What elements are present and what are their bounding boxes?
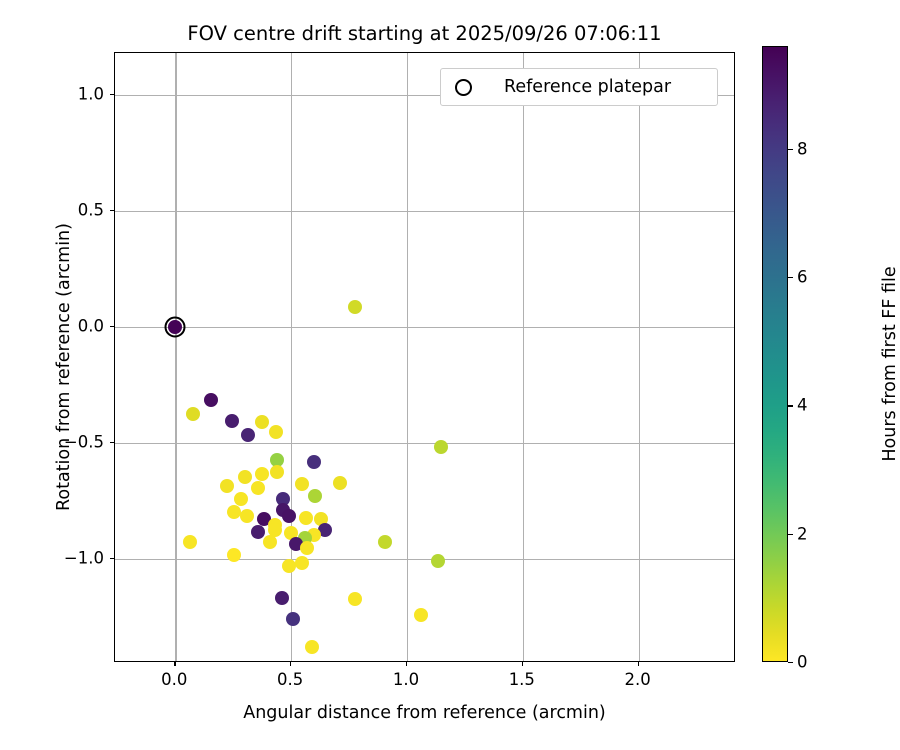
scatter-point <box>227 548 241 562</box>
colorbar-tick <box>788 149 793 150</box>
y-axis-tick <box>110 558 114 559</box>
scatter-point <box>286 612 300 626</box>
x-axis-tick <box>174 662 175 666</box>
scatter-point <box>251 525 265 539</box>
scatter-point <box>269 425 283 439</box>
colorbar-tick-label: 0 <box>797 653 808 672</box>
scatter-point <box>299 511 313 525</box>
x-axis-label: Angular distance from reference (arcmin) <box>114 703 735 723</box>
y-axis-tick-label: 1.0 <box>52 84 104 103</box>
gridline-vertical <box>639 53 640 661</box>
scatter-point <box>333 476 347 490</box>
colorbar-tick <box>788 277 793 278</box>
page-title: FOV centre drift starting at 2025/09/26 … <box>114 22 735 45</box>
scatter-point <box>225 414 239 428</box>
scatter-point <box>220 479 234 493</box>
scatter-point <box>282 559 296 573</box>
colorbar-tick <box>788 534 793 535</box>
scatter-point <box>241 428 255 442</box>
scatter-point <box>275 591 289 605</box>
gridline-horizontal <box>115 211 734 212</box>
gridline-horizontal <box>115 559 734 560</box>
x-axis-tick <box>522 662 523 666</box>
scatter-point <box>240 509 254 523</box>
legend-marker-reference-platepar <box>455 79 472 96</box>
scatter-point <box>295 477 309 491</box>
scatter-point <box>255 467 269 481</box>
scatter-point <box>234 492 248 506</box>
x-axis-tick <box>638 662 639 666</box>
scatter-point <box>204 393 218 407</box>
gridline-vertical <box>523 53 524 661</box>
y-axis-tick-label: −1.0 <box>52 548 104 567</box>
x-axis-tick <box>406 662 407 666</box>
x-axis-tick <box>290 662 291 666</box>
scatter-point <box>300 541 314 555</box>
colorbar-tick <box>788 662 793 663</box>
scatter-point <box>305 640 319 654</box>
gridline-horizontal <box>115 443 734 444</box>
scatter-point <box>282 509 296 523</box>
y-axis-tick <box>110 326 114 327</box>
scatter-point <box>227 505 241 519</box>
scatter-point <box>307 455 321 469</box>
colorbar-tick-label: 6 <box>797 268 808 287</box>
y-axis-tick <box>110 210 114 211</box>
gridline-vertical <box>175 53 176 661</box>
scatter-point <box>251 481 265 495</box>
scatter-point <box>295 556 309 570</box>
x-axis-tick-label: 0.0 <box>161 670 187 689</box>
scatter-point <box>348 300 362 314</box>
plot-area <box>114 52 735 662</box>
scatter-point <box>186 407 200 421</box>
colorbar <box>762 46 788 662</box>
scatter-point <box>270 465 284 479</box>
scatter-point <box>378 535 392 549</box>
colorbar-tick-label: 2 <box>797 524 808 543</box>
y-axis-label: Rotation from reference (arcmin) <box>54 217 74 517</box>
scatter-point <box>255 415 269 429</box>
x-axis-tick-label: 1.0 <box>393 670 419 689</box>
colorbar-label: Hours from first FF file <box>880 174 900 554</box>
colorbar-tick-label: 4 <box>797 396 808 415</box>
gridline-horizontal <box>115 327 734 328</box>
y-axis-tick <box>110 442 114 443</box>
scatter-point <box>263 535 277 549</box>
x-axis-tick-label: 2.0 <box>625 670 651 689</box>
x-axis-tick-label: 1.5 <box>509 670 535 689</box>
scatter-point <box>348 592 362 606</box>
scatter-point <box>238 470 252 484</box>
legend-label-reference-platepar: Reference platepar <box>504 77 671 97</box>
scatter-point <box>431 554 445 568</box>
x-axis-tick-label: 0.5 <box>277 670 303 689</box>
gridline-vertical <box>407 53 408 661</box>
colorbar-tick <box>788 405 793 406</box>
y-axis-tick <box>110 94 114 95</box>
legend: Reference platepar <box>440 68 718 106</box>
chart-page: FOV centre drift starting at 2025/09/26 … <box>0 0 900 750</box>
scatter-point <box>183 535 197 549</box>
scatter-point <box>434 440 448 454</box>
scatter-point <box>308 489 322 503</box>
scatter-point <box>414 608 428 622</box>
reference-platepar-marker <box>165 316 186 337</box>
colorbar-tick-label: 8 <box>797 139 808 158</box>
